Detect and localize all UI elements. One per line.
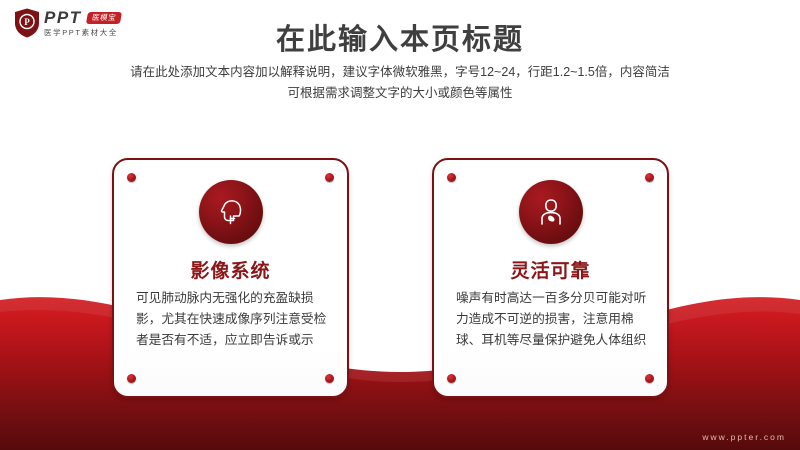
card-body-text: 可见肺动脉内无强化的充盈缺损影，尤其在快速成像序列注意受检者是否有不适，应立即告… — [136, 288, 327, 351]
card-title: 灵活可靠 — [434, 256, 667, 283]
card-body-text: 噪声有时高达一百多分贝可能对听力造成不可逆的损害，注意用棉球、耳机等尽量保护避免… — [456, 288, 647, 351]
person-organ-glyph — [534, 195, 568, 229]
logo-brand-text: PPT — [44, 9, 82, 26]
feature-card-1[interactable]: 影像系统 可见肺动脉内无强化的充盈缺损影，尤其在快速成像序列注意受检者是否有不适… — [112, 158, 349, 398]
subtitle-line-2: 可根据需求调整文字的大小或颜色等属性 — [0, 83, 800, 104]
page-subtitle: 请在此处添加文本内容加以解释说明，建议字体微软雅黑，字号12~24，行距1.2~… — [0, 62, 800, 104]
shield-letter: P — [24, 17, 30, 27]
card-corner-dot — [447, 173, 456, 182]
logo-text-block: PPT 医模宝 医学PPT素材大全 — [44, 9, 121, 37]
card-corner-dot — [645, 173, 654, 182]
head-profile-glyph — [214, 195, 248, 229]
card-corner-dot — [447, 374, 456, 383]
card-title: 影像系统 — [114, 256, 347, 283]
feature-card-2[interactable]: 灵活可靠 噪声有时高达一百多分贝可能对听力造成不可逆的损害，注意用棉球、耳机等尽… — [432, 158, 669, 398]
head-profile-icon — [199, 180, 263, 244]
card-reflection-right — [438, 400, 663, 426]
card-reflection-left — [118, 400, 343, 426]
card-corner-dot — [127, 374, 136, 383]
logo-top-row: PPT 医模宝 — [44, 9, 121, 26]
logo-pill-badge: 医模宝 — [86, 12, 122, 24]
card-corner-dot — [127, 173, 136, 182]
card-surface[interactable]: 灵活可靠 噪声有时高达一百多分贝可能对听力造成不可逆的损害，注意用棉球、耳机等尽… — [432, 158, 669, 398]
person-organ-icon — [519, 180, 583, 244]
shield-icon: P — [14, 8, 40, 38]
card-corner-dot — [645, 374, 654, 383]
card-corner-dot — [325, 374, 334, 383]
logo-tagline: 医学PPT素材大全 — [44, 29, 121, 37]
brand-logo[interactable]: P PPT 医模宝 医学PPT素材大全 — [14, 8, 121, 38]
card-corner-dot — [325, 173, 334, 182]
card-surface[interactable]: 影像系统 可见肺动脉内无强化的充盈缺损影，尤其在快速成像序列注意受检者是否有不适… — [112, 158, 349, 398]
footer-website-url[interactable]: www.ppter.com — [702, 432, 786, 442]
slide-canvas: P PPT 医模宝 医学PPT素材大全 在此输入本页标题 请在此处添加文本内容加… — [0, 0, 800, 450]
subtitle-line-1: 请在此处添加文本内容加以解释说明，建议字体微软雅黑，字号12~24，行距1.2~… — [0, 62, 800, 83]
